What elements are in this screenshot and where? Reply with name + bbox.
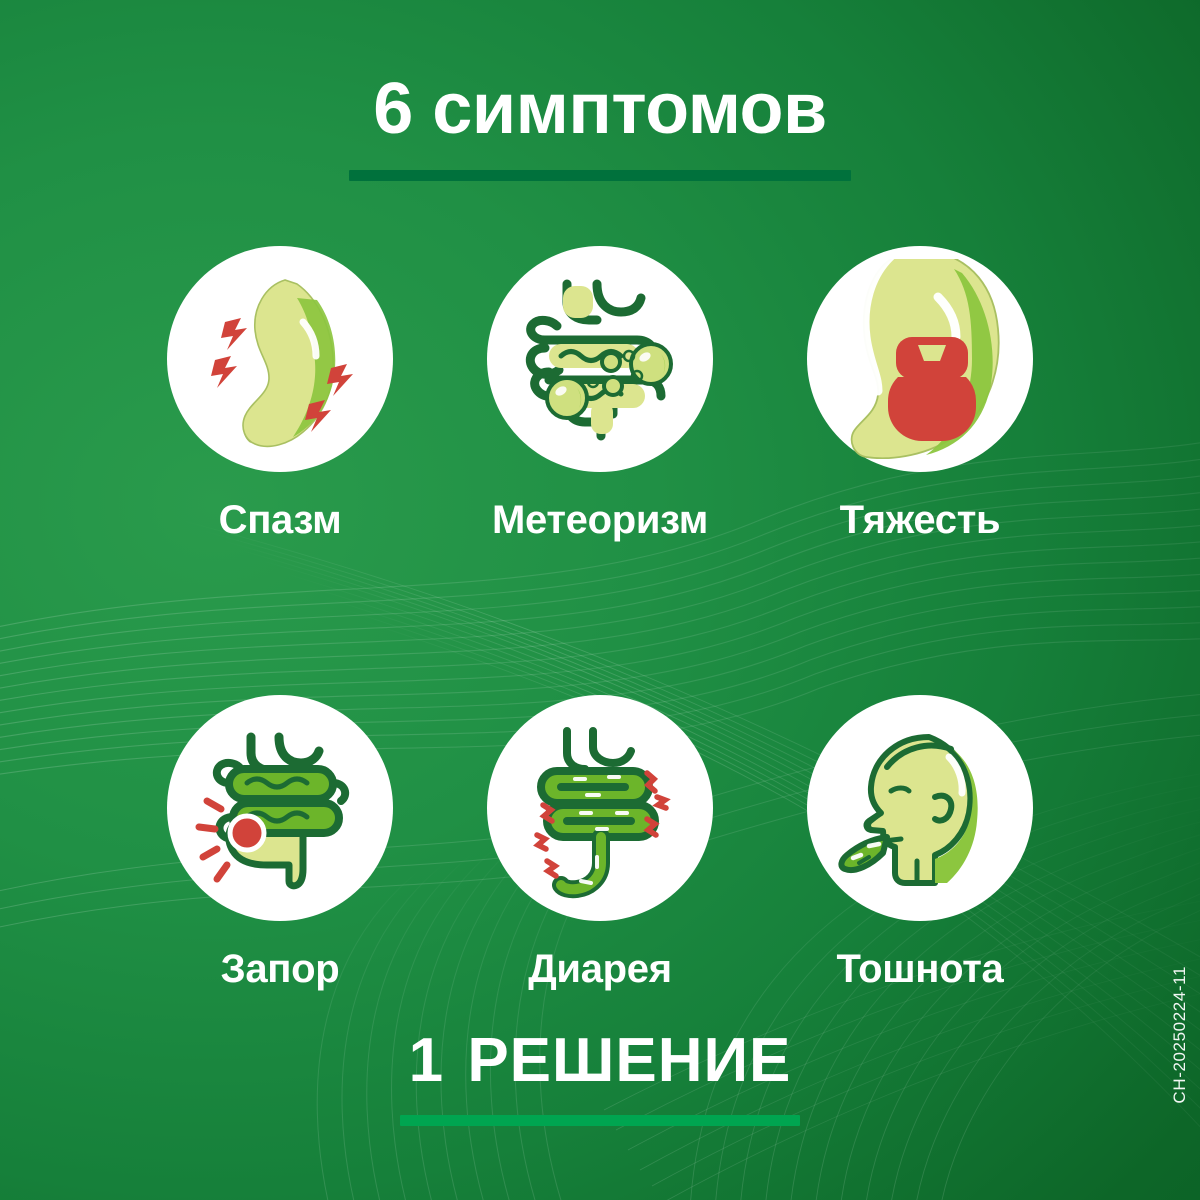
symptom-label-heaviness: Тяжесть [840, 498, 1001, 543]
symptom-badge-spasm [167, 246, 393, 472]
symptom-card-bloating[interactable]: Метеоризм [440, 246, 760, 543]
symptom-badge-constipation [167, 695, 393, 921]
symptom-card-heaviness[interactable]: Тяжесть [760, 246, 1080, 543]
symptom-label-diarrhea: Диарея [528, 947, 672, 992]
symptom-card-diarrhea[interactable]: Диарея [440, 695, 760, 992]
symptom-card-spasm[interactable]: Спазм [120, 246, 440, 543]
title-underline-rule [349, 170, 851, 181]
symptom-badge-heaviness [807, 246, 1033, 472]
symptom-label-bloating: Метеоризм [492, 498, 708, 543]
footer-number: 1 [409, 1026, 449, 1095]
stomach-lightning-icon [185, 264, 375, 454]
symptom-label-nausea: Тошнота [836, 947, 1003, 992]
footer: 1 РЕШЕНИЕ [0, 1028, 1200, 1126]
symptom-label-constipation: Запор [221, 947, 340, 992]
poster-canvas: 6 симптомов [0, 0, 1200, 1200]
symptom-card-constipation[interactable]: Запор [120, 695, 440, 992]
reference-code: CH-20250224-11 [1170, 966, 1190, 1104]
stomach-kettlebell-icon [820, 259, 1020, 459]
page-title: 6 симптомов [0, 72, 1200, 148]
symptom-card-nausea[interactable]: Тошнота [760, 695, 1080, 992]
symptom-label-spasm: Спазм [219, 498, 342, 543]
symptom-badge-diarrhea [487, 695, 713, 921]
symptom-badge-nausea [807, 695, 1033, 921]
intestine-blockage-icon [185, 713, 375, 903]
header: 6 симптомов [0, 72, 1200, 181]
intestine-bubbles-icon [505, 264, 695, 454]
head-vomit-icon [825, 713, 1015, 903]
footer-word: РЕШЕНИЕ [467, 1026, 791, 1095]
footer-underline-rule [400, 1115, 800, 1126]
symptom-badge-bloating [487, 246, 713, 472]
footer-title: 1 РЕШЕНИЕ [0, 1028, 1200, 1093]
symptom-grid: Спазм [120, 246, 1080, 992]
intestine-motion-icon [505, 713, 695, 903]
